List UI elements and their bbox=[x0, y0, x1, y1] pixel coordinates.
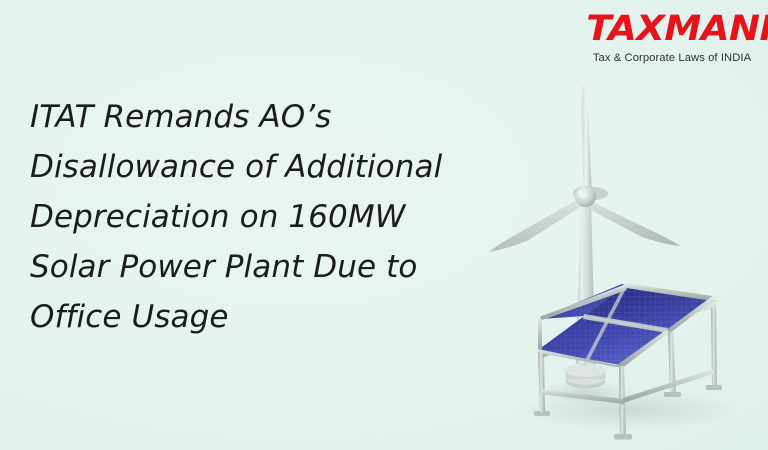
solar-panel-left-upper-visible bbox=[501, 286, 624, 347]
solar-panel-west-upper bbox=[503, 285, 627, 345]
turbine-base-top bbox=[566, 370, 606, 385]
solar-frame-right-edge bbox=[665, 297, 716, 333]
turbine-hub bbox=[575, 186, 596, 207]
logo-wordmark-text: TAXMANN bbox=[586, 9, 768, 49]
turbine-blade-lower-right bbox=[585, 200, 680, 246]
turbine-base-collar bbox=[566, 370, 606, 379]
solar-panels bbox=[501, 285, 626, 347]
turbine-base bbox=[566, 374, 606, 389]
solar-panel-grid-left bbox=[500, 287, 623, 347]
solar-frame-back-left bbox=[538, 318, 542, 350]
solar-panel-front-left-top bbox=[504, 287, 624, 342]
solar-panel-lower-left-top bbox=[502, 286, 624, 346]
solar-panel-left-upper bbox=[502, 286, 626, 345]
solar-frame-diag bbox=[540, 284, 628, 320]
ground-shadow-turbine bbox=[542, 381, 630, 403]
headline-line-1: ITAT Remands AO’s bbox=[30, 92, 500, 142]
solar-rail-back bbox=[540, 301, 716, 358]
solar-panel-quad-left-top bbox=[501, 285, 625, 343]
headline-line-4: Solar Power Plant Due to bbox=[30, 242, 500, 292]
solar-panel-ll bbox=[497, 317, 584, 351]
solar-foot-front-right bbox=[664, 392, 681, 397]
solar-panel-quad-2 bbox=[530, 312, 680, 372]
solar-foot-rear-left bbox=[534, 411, 550, 416]
turbine-tower bbox=[576, 196, 597, 381]
solar-panel-top-left bbox=[543, 285, 627, 317]
solar-crossbar-horizontal-2 bbox=[583, 314, 668, 333]
solar-foot-front-center bbox=[614, 434, 632, 440]
solar-crossbar-vertical bbox=[582, 285, 628, 366]
solar-panel-ul bbox=[530, 280, 640, 326]
turbine-blade-up bbox=[582, 85, 592, 194]
headline-line-2: Disallowance of Additional bbox=[30, 142, 500, 192]
solar-leg-rear-right bbox=[711, 300, 717, 387]
solar-array-row-upper bbox=[540, 285, 711, 318]
turbine-blade-lower-left bbox=[489, 197, 584, 252]
solar-panel-quad-3 bbox=[540, 284, 625, 318]
promo-banner: TAXMANN ® Tax & Corporate Laws of INDIA … bbox=[0, 0, 768, 450]
solar-rail-lower-left bbox=[541, 389, 624, 404]
ground-shadow-solar bbox=[518, 390, 738, 430]
solar-frame-left-edge bbox=[538, 349, 623, 368]
solar-foot-rear-right bbox=[706, 385, 722, 390]
solar-leg-front-right bbox=[668, 332, 676, 394]
taxmann-logo[interactable]: TAXMANN ® Tax & Corporate Laws of INDIA bbox=[592, 12, 752, 64]
solar-panel-surface-top-left bbox=[540, 285, 627, 319]
solar-panel-left-column bbox=[502, 286, 625, 344]
turbine-nacelle bbox=[573, 186, 608, 201]
wind-turbine bbox=[489, 85, 680, 389]
solar-leg-front-center bbox=[619, 366, 626, 437]
solar-frame-top-edge bbox=[626, 283, 712, 301]
logo-tagline: Tax & Corporate Laws of INDIA bbox=[592, 53, 752, 64]
headline-line-5: Office Usage bbox=[30, 292, 500, 342]
headline: ITAT Remands AO’s Disallowance of Additi… bbox=[30, 92, 500, 342]
solar-panel-quad-1 bbox=[575, 280, 725, 338]
headline-line-3: Depreciation on 160MW bbox=[30, 192, 500, 242]
solar-crossbar-horizontal bbox=[540, 286, 627, 320]
solar-leg-front-left bbox=[538, 352, 545, 413]
logo-wordmark: TAXMANN ® bbox=[586, 12, 768, 47]
solar-panel-quad-4 bbox=[500, 292, 612, 341]
solar-rail-lower-front bbox=[623, 369, 713, 403]
solar-panel-array bbox=[497, 280, 725, 440]
solar-panel-surface-top-right bbox=[575, 280, 725, 340]
solar-frame-bottom-edge bbox=[617, 330, 670, 368]
solar-leg-rear-left bbox=[539, 352, 545, 413]
turbine-hub-cap bbox=[578, 189, 587, 198]
